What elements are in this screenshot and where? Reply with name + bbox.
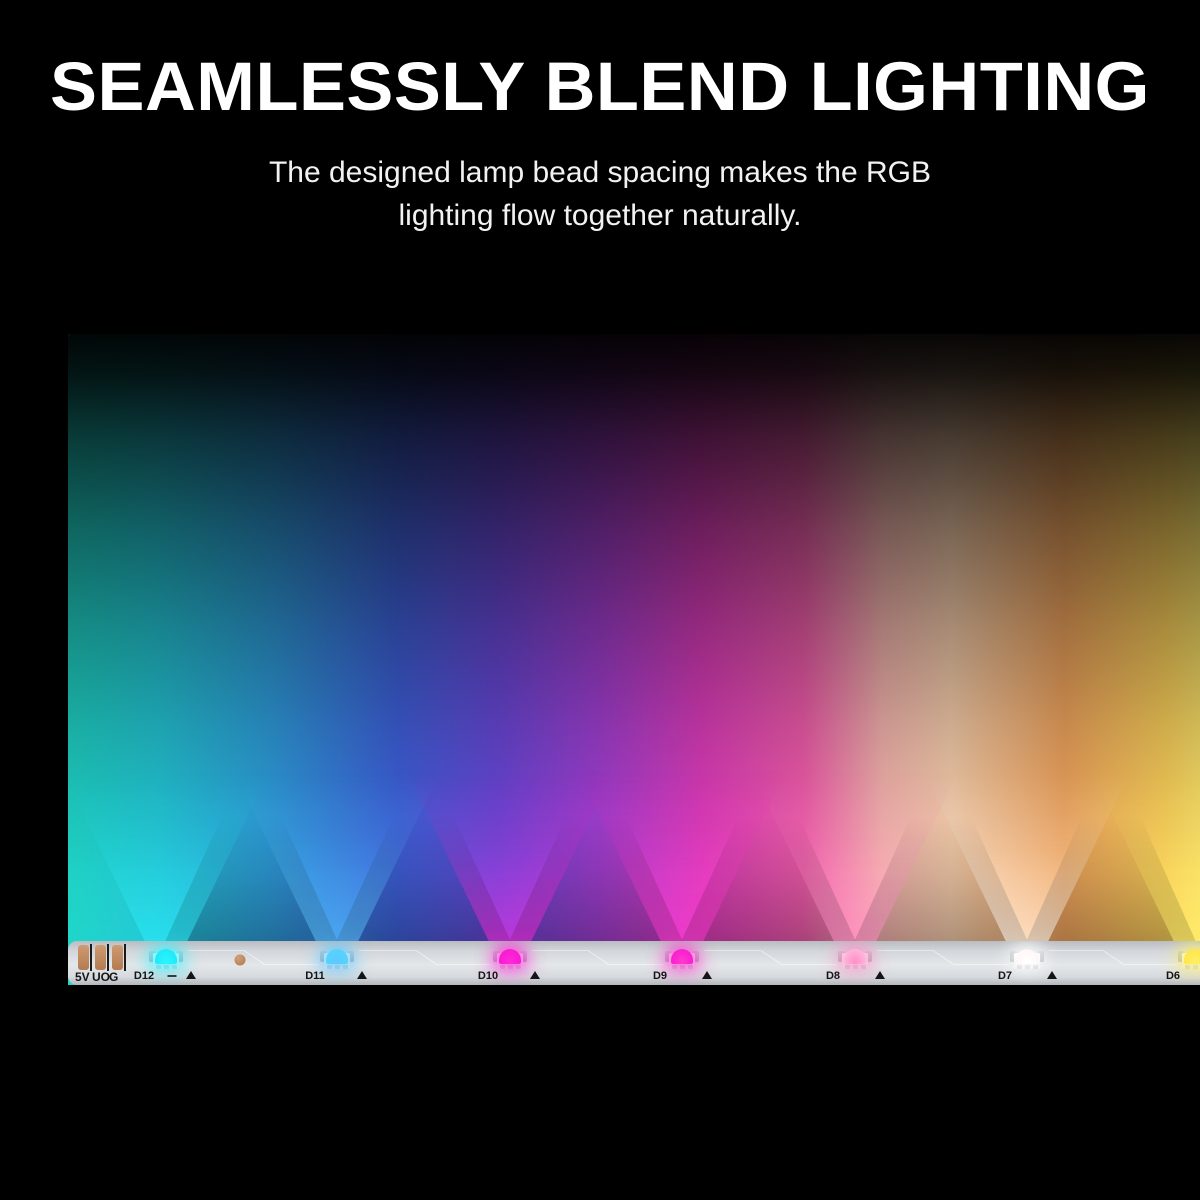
led-pad [1017,965,1022,969]
led-label: D12 [134,970,154,982]
pcb-trace-diagonal [243,950,265,965]
led-pad [172,965,177,969]
pcb-trace [359,950,416,951]
led-pad [327,965,332,969]
led-pad [164,965,169,969]
led-strip-pcb: 5VUOGD12D11D10D9D8D7D6 [68,941,1200,985]
led-label: D7 [998,970,1012,982]
subtitle-line-1: The designed lamp bead spacing makes the… [0,152,1200,195]
led-package-d8 [838,949,872,970]
led-pad [1025,965,1030,969]
pcb-trace-diagonal [588,950,610,965]
pcb-via-test-point [235,955,246,966]
subtitle-line-2: lighting flow together naturally. [0,195,1200,238]
pad-separator [90,944,92,971]
led-pad [156,965,161,969]
led-package-d9 [665,949,699,970]
pcb-trace-diagonal [933,950,955,965]
pcb-trace-diagonal [760,950,782,965]
solder-pad-g [112,945,123,970]
led-package-d6 [1178,949,1200,970]
pcb-trace [610,964,664,965]
led-pad [500,965,505,969]
led-label: D9 [653,970,667,982]
led-pad [672,965,677,969]
pad-separator [107,944,109,971]
vertical-falloff-shading [68,334,1200,985]
led-pad [335,965,340,969]
led-package-d10 [493,949,527,970]
pcb-trace [1125,964,1177,965]
led-direction-arrow [530,971,540,979]
pcb-trace [1049,950,1103,951]
led-emitter-dome [326,949,348,964]
pcb-trace [783,964,838,965]
page-title: SEAMLESSLY BLEND LIGHTING [0,52,1200,121]
solder-pad-uo [95,945,106,970]
led-label: D10 [478,970,498,982]
pcb-trace [188,950,244,951]
pad-separator [124,944,126,971]
product-photo [68,334,1200,985]
product-marketing-image: SEAMLESSLY BLEND LIGHTING The designed l… [0,0,1200,1200]
pcb-trace [532,950,588,951]
led-label: D6 [1166,970,1180,982]
pcb-trace [877,950,933,951]
solder-pad-5v [78,945,89,970]
led-polarity-tick [168,975,177,977]
led-pad [680,965,685,969]
led-label: D11 [305,970,325,982]
pcb-trace [438,964,493,965]
led-pad [1033,965,1038,969]
led-package-d11 [320,949,354,970]
led-direction-arrow [1047,971,1057,979]
pcb-trace [266,964,320,965]
led-direction-arrow [357,971,367,979]
led-emitter-dome [844,949,866,964]
pcb-trace [704,950,761,951]
led-label: D8 [826,970,840,982]
led-pad [861,965,866,969]
led-direction-arrow [875,971,885,979]
led-emitter-dome [1016,949,1038,964]
led-emitter-dome [155,949,177,964]
led-package-d7 [1010,949,1044,970]
led-emitter-dome [1184,949,1200,964]
pcb-trace-diagonal [1103,950,1125,965]
led-pad [516,965,521,969]
led-pad [508,965,513,969]
led-pad [343,965,348,969]
solder-pad-label: 5V [75,970,90,984]
solder-pad-label: UO [92,970,110,984]
led-direction-arrow [186,971,196,979]
led-direction-arrow [702,971,712,979]
led-emitter-dome [671,949,693,964]
pcb-trace-diagonal [415,950,437,965]
led-pad [1185,965,1190,969]
led-package-d12 [149,949,183,970]
solder-pad-label: G [109,970,118,984]
pcb-trace [955,964,1009,965]
led-pad [845,965,850,969]
led-pad [1193,965,1198,969]
led-pad [853,965,858,969]
led-pad [688,965,693,969]
led-emitter-dome [499,949,521,964]
subtitle: The designed lamp bead spacing makes the… [0,152,1200,237]
